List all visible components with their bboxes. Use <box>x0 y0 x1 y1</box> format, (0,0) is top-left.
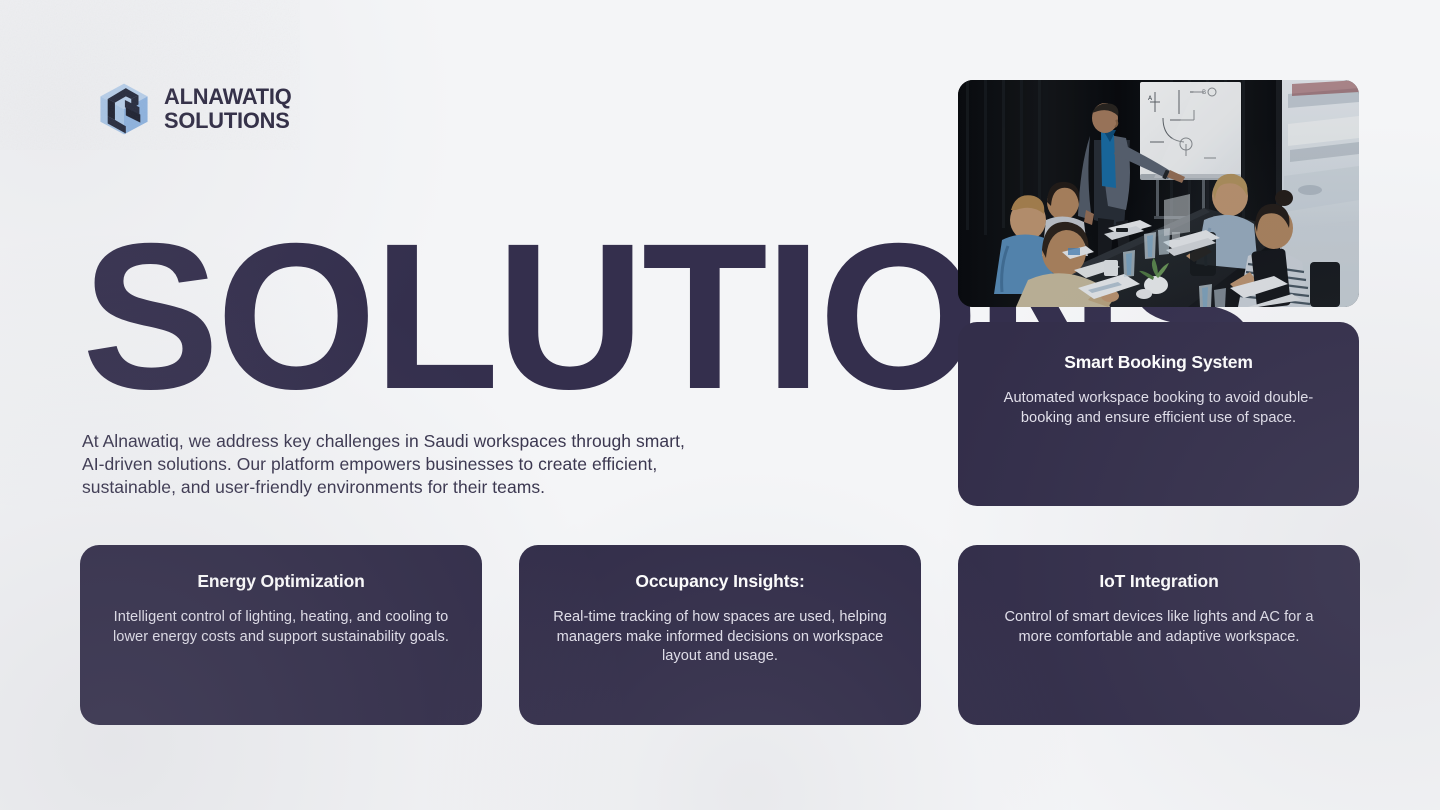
card-body: Real-time tracking of how spaces are use… <box>541 608 899 667</box>
card-title: Smart Booking System <box>980 352 1337 373</box>
card-title: IoT Integration <box>980 571 1338 592</box>
card-body: Control of smart devices like lights and… <box>980 608 1338 647</box>
meeting-room-photo-graphic: A B <box>958 80 1359 307</box>
card-title: Energy Optimization <box>102 571 460 592</box>
card-body: Intelligent control of lighting, heating… <box>102 608 460 647</box>
intro-paragraph: At Alnawatiq, we address key challenges … <box>82 430 707 498</box>
brand-name-line1: ALNAWATIQ <box>164 86 292 109</box>
feature-card-smart-booking-system[interactable]: Smart Booking System Automated workspace… <box>958 322 1359 506</box>
feature-card-occupancy-insights[interactable]: Occupancy Insights: Real-time tracking o… <box>519 545 921 725</box>
brand-logo[interactable]: ALNAWATIQ SOLUTIONS <box>95 80 296 138</box>
brand-wordmark: ALNAWATIQ SOLUTIONS <box>164 86 296 132</box>
card-title: Occupancy Insights: <box>541 571 899 592</box>
feature-card-iot-integration[interactable]: IoT Integration Control of smart devices… <box>958 545 1360 725</box>
feature-card-energy-optimization[interactable]: Energy Optimization Intelligent control … <box>80 545 482 725</box>
brand-name-line2: SOLUTIONS <box>164 110 292 133</box>
meeting-room-photo: A B <box>958 80 1359 307</box>
card-body: Automated workspace booking to avoid dou… <box>980 389 1337 428</box>
alnawatiq-cube-logo-icon <box>95 80 153 138</box>
